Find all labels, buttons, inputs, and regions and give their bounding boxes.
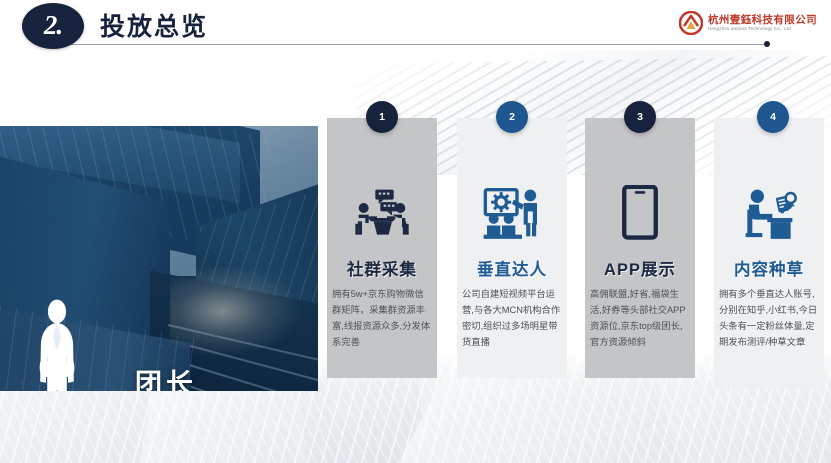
company-name-cn: 杭州壹鈺科技有限公司 xyxy=(708,15,817,26)
step-circle-4[interactable]: 4 xyxy=(757,101,789,133)
company-name-en: Hangzhou aoituna Technology Co., Ltd xyxy=(708,27,817,31)
step-circle-1[interactable]: 1 xyxy=(366,101,398,133)
feature-card-4[interactable]: 内容种草 拥有多个垂直达人账号,分别在知乎,小红书,今日头条有一定粉丝体量,定期… xyxy=(714,118,824,388)
step-number-1: 1 xyxy=(379,111,385,123)
feature-card-1[interactable]: 社群采集 拥有5w+京东购物微信群矩阵，采集群资源丰富,线报资源众多,分发体系完… xyxy=(327,118,437,378)
section-number-badge: 2. xyxy=(22,3,84,49)
section-number-text: 2. xyxy=(44,10,62,41)
step-circle-2[interactable]: 2 xyxy=(496,101,528,133)
feature-card-2[interactable]: 垂直达人 公司自建短视频平台运营,与各大MCN机构合作密切,组织过多场明星带货直… xyxy=(457,118,567,378)
businessman-silhouette-icon xyxy=(36,296,78,391)
hero-image: 团长 xyxy=(0,126,318,391)
card-body-4: 拥有多个垂直达人账号,分别在知乎,小红书,今日头条有一定粉丝体量,定期发布测评/… xyxy=(718,287,820,351)
card-title-1: 社群采集 xyxy=(347,256,417,280)
header-line-end-dot xyxy=(764,41,770,47)
card-body-3: 高佣联盟,好省,福袋生活,好券等头部社交APP资源位,京东top级团长,官方资源… xyxy=(589,287,691,351)
header-divider-line xyxy=(62,44,768,45)
step-number-2: 2 xyxy=(509,111,515,123)
smartphone-icon xyxy=(619,180,661,246)
card-title-3: APP展示 xyxy=(604,256,676,280)
presentation-gear-icon xyxy=(482,180,542,246)
meeting-table-icon xyxy=(352,180,412,246)
card-title-4: 内容种草 xyxy=(734,256,804,280)
page-title: 投放总览 xyxy=(100,7,208,43)
step-number-3: 3 xyxy=(637,111,643,123)
hero-label: 团长 xyxy=(135,362,197,391)
person-at-desk-icon xyxy=(739,180,799,246)
card-body-2: 公司自建短视频平台运营,与各大MCN机构合作密切,组织过多场明星带货直播 xyxy=(461,287,563,351)
feature-card-3[interactable]: APP展示 高佣联盟,好省,福袋生活,好券等头部社交APP资源位,京东top级团… xyxy=(585,118,695,378)
step-number-4: 4 xyxy=(770,111,776,123)
company-logo-mark-icon xyxy=(679,11,703,35)
slide-canvas: 2. 投放总览 杭州壹鈺科技有限公司 Hangzhou aoituna Tech… xyxy=(0,0,831,463)
step-circle-3[interactable]: 3 xyxy=(624,101,656,133)
card-title-2: 垂直达人 xyxy=(477,256,547,280)
card-body-1: 拥有5w+京东购物微信群矩阵，采集群资源丰富,线报资源众多,分发体系完善 xyxy=(331,287,433,351)
company-logo: 杭州壹鈺科技有限公司 Hangzhou aoituna Technology C… xyxy=(679,10,817,36)
